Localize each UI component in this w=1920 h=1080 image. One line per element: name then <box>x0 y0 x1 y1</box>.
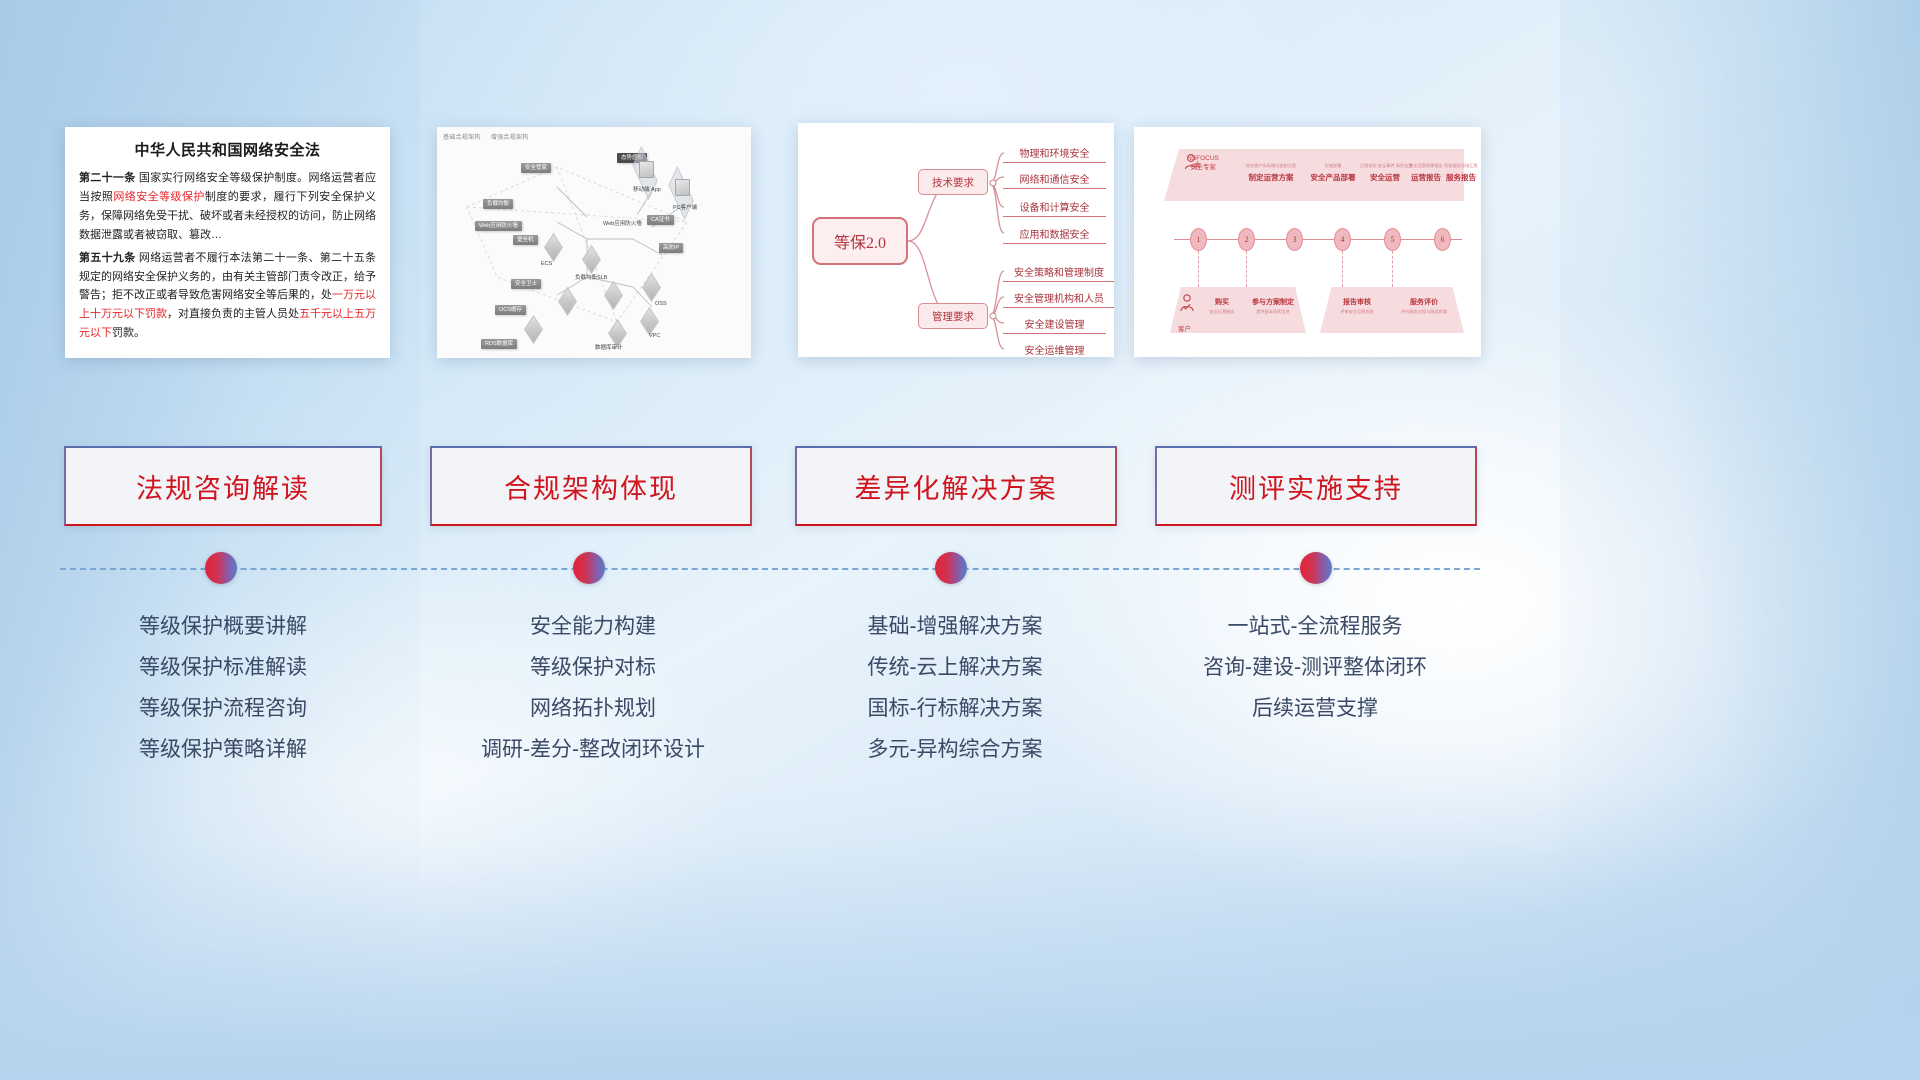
arch-node-security-guard: 安全卫士 <box>511 279 541 289</box>
list-item: 国标-行标解决方案 <box>775 688 1135 729</box>
timeline-node-5: 5 <box>1384 228 1401 251</box>
card-compliance-architecture[interactable]: 基础合规架构增强合规架构 <box>437 127 751 358</box>
arch-label-mobile-app: 移动端 App <box>633 185 661 193</box>
arch-icon-pc <box>675 179 690 196</box>
list-item: 传统-云上解决方案 <box>775 647 1135 688</box>
list-item: 一站式-全流程服务 <box>1135 606 1495 647</box>
client-label: 客户 <box>1178 323 1191 333</box>
arch-label-db-audit: 数据库审计 <box>595 343 623 351</box>
section-title-box-1[interactable]: 法规咨询解读 <box>64 446 382 526</box>
mind-leaf-org-personnel: 安全管理机构和人员 <box>1003 288 1114 308</box>
stage-sub-3: 日常巡检 安全事件 高危处置 <box>1360 163 1410 169</box>
stage-label-5: 阶段服务总结汇报 服务报告 <box>1442 163 1480 183</box>
arch-node-anti-ddos-ip: 高防IP <box>659 243 683 253</box>
mind-branch-technical: 技术要求 <box>918 169 988 195</box>
list-item: 等级保护概要讲解 <box>43 606 403 647</box>
timeline-dashed-line <box>60 568 1480 570</box>
law-paragraph-21: 第二十一条 国家实行网络安全等级保护制度。网络运营者应当按照网络安全等级保护制度… <box>79 169 376 245</box>
arch-label-pc-client: PC客户端 <box>673 203 697 211</box>
client-action-main-1: 购买 <box>1200 297 1244 307</box>
client-action-3: 报告审核 评审安全运营成效 <box>1328 297 1386 315</box>
timeline-node-3: 3 <box>1286 228 1303 251</box>
section-items-4: 一站式-全流程服务 咨询-建设-测评整体闭环 后续运营支撑 <box>1135 606 1495 729</box>
client-action-main-3: 报告审核 <box>1328 297 1386 307</box>
stage-sub-2: 实施部署 <box>1306 163 1360 169</box>
law-article-label-21: 第二十一条 <box>79 172 136 184</box>
client-action-4: 服务评价 评价服务过程与服务质量 <box>1392 297 1456 315</box>
stage-label-2: 实施部署 安全产品部署 <box>1306 163 1360 183</box>
timeline-marker-2[interactable] <box>573 552 605 584</box>
stage-label-3: 日常巡检 安全事件 高危处置 安全运营 <box>1360 163 1410 183</box>
client-action-main-2: 参与方案制定 <box>1242 297 1304 307</box>
slide-stage: 中华人民共和国网络安全法 第二十一条 国家实行网络安全等级保护制度。网络运营者应… <box>0 0 1920 1080</box>
mind-leaf-operation-mgmt: 安全运维管理 <box>1003 340 1106 357</box>
nsfocus-flow: NSFOCUS 安全专家 结合客户实际情况定制方案 制定运营方案 实施部署 安全… <box>1134 127 1481 357</box>
client-action-main-4: 服务评价 <box>1392 297 1456 307</box>
stage-main-5: 服务报告 <box>1442 172 1480 183</box>
client-action-2: 参与方案制定 提供基本现状信息 <box>1242 297 1304 315</box>
arch-label-waf: Web应用防火墙 <box>603 219 642 227</box>
section-title-2: 合规架构体现 <box>504 467 678 506</box>
arch-icon-mobile-device <box>639 161 654 178</box>
mind-root-node: 等保2.0 <box>812 217 908 265</box>
stage-sub-1: 结合客户实际情况定制方案 <box>1242 163 1300 169</box>
law-run-highlight: 网络安全等级保护 <box>113 191 205 203</box>
list-item: 调研-差分-整改闭环设计 <box>413 729 773 770</box>
section-items-3: 基础-增强解决方案 传统-云上解决方案 国标-行标解决方案 多元-异构综合方案 <box>775 606 1135 770</box>
timeline-node-1: 1 <box>1190 228 1207 251</box>
section-title-4: 测评实施支持 <box>1229 467 1403 506</box>
mind-leaf-construction-mgmt: 安全建设管理 <box>1003 314 1106 334</box>
list-item: 等级保护对标 <box>413 647 773 688</box>
arch-node-security-butler: 安全管家 <box>521 163 551 173</box>
client-action-sub-4: 评价服务过程与服务质量 <box>1392 309 1456 315</box>
section-title-box-2[interactable]: 合规架构体现 <box>430 446 752 526</box>
list-item: 多元-异构综合方案 <box>775 729 1135 770</box>
list-item: 等级保护标准解读 <box>43 647 403 688</box>
arch-label-slb: 负载均衡SLB <box>575 273 607 281</box>
client-icon <box>1178 293 1196 313</box>
law-document: 中华人民共和国网络安全法 第二十一条 国家实行网络安全等级保护制度。网络运营者应… <box>65 127 390 355</box>
law-paragraph-59: 第五十九条 网络运营者不履行本法第二十一条、第二十五条规定的网络安全保护义务的，… <box>79 249 376 344</box>
section-title-box-3[interactable]: 差异化解决方案 <box>795 446 1117 526</box>
arch-node-waf-left: Web应用防火墙 <box>475 221 522 231</box>
timeline-node-4: 4 <box>1334 228 1351 251</box>
stage-sub-4: 安全运营效果报告 <box>1406 163 1446 169</box>
list-item: 等级保护流程咨询 <box>43 688 403 729</box>
timeline-node-2: 2 <box>1238 228 1255 251</box>
list-item: 网络拓扑规划 <box>413 688 773 729</box>
section-title-box-4[interactable]: 测评实施支持 <box>1155 446 1477 526</box>
mind-leaf-device-compute: 设备和计算安全 <box>1003 197 1106 217</box>
arch-label-vpc: VPC <box>649 333 660 339</box>
expert-role: 安全专家 <box>1174 164 1232 173</box>
arch-node-ocs-cache: OCS缓存 <box>495 305 526 315</box>
law-run: ，对直接负责的主管人员处 <box>167 308 299 320</box>
stage-main-3: 安全运营 <box>1360 172 1410 183</box>
timeline-axis <box>1174 239 1462 240</box>
mind-leaf-policy-system: 安全策略和管理制度 <box>1003 262 1114 282</box>
section-title-1: 法规咨询解读 <box>136 467 310 506</box>
client-action-1: 购买 安全运营服务 <box>1200 297 1244 315</box>
architecture-diagram: 基础合规架构增强合规架构 <box>437 127 751 358</box>
client-action-sub-1: 安全运营服务 <box>1200 309 1244 315</box>
expert-label: NSFOCUS 安全专家 <box>1174 155 1232 172</box>
timeline-connector-4 <box>1342 251 1343 287</box>
list-item: 后续运营支撑 <box>1135 688 1495 729</box>
timeline-connector-2 <box>1246 251 1247 287</box>
stage-main-2: 安全产品部署 <box>1306 172 1360 183</box>
law-article-label-59: 第五十九条 <box>79 252 136 264</box>
arch-label-oss: OSS <box>655 301 667 307</box>
arch-node-ca-cert: CA证书 <box>647 215 674 225</box>
timeline-connector-1 <box>1198 251 1199 287</box>
stage-label-4: 安全运营效果报告 运营报告 <box>1406 163 1446 183</box>
timeline-marker-1[interactable] <box>205 552 237 584</box>
card-mind-map-dengbao[interactable]: 等保2.0 技术要求 管理要求 物理和环境安全 网络和通信安全 设备和计算安全 … <box>798 123 1114 357</box>
mind-leaf-network-comm: 网络和通信安全 <box>1003 169 1106 189</box>
mind-leaf-app-data: 应用和数据安全 <box>1003 224 1106 244</box>
mind-map: 等保2.0 技术要求 管理要求 物理和环境安全 网络和通信安全 设备和计算安全 … <box>798 123 1114 357</box>
arch-node-rds: RDS数据库 <box>481 339 517 349</box>
mind-branch-management: 管理要求 <box>918 303 988 329</box>
stage-main-4: 运营报告 <box>1406 172 1446 183</box>
timeline-node-6: 6 <box>1434 228 1451 251</box>
list-item: 基础-增强解决方案 <box>775 606 1135 647</box>
mind-leaf-physical-env: 物理和环境安全 <box>1003 143 1106 163</box>
section-items-2: 安全能力构建 等级保护对标 网络拓扑规划 调研-差分-整改闭环设计 <box>413 606 773 770</box>
list-item: 等级保护策略详解 <box>43 729 403 770</box>
list-item: 安全能力构建 <box>413 606 773 647</box>
arch-label-ecs: ECS <box>541 261 552 267</box>
reference-card-row: 中华人民共和国网络安全法 第二十一条 国家实行网络安全等级保护制度。网络运营者应… <box>0 0 1920 380</box>
timeline-marker-4[interactable] <box>1300 552 1332 584</box>
architecture-connectors <box>437 127 751 358</box>
timeline-marker-3[interactable] <box>935 552 967 584</box>
card-cybersecurity-law[interactable]: 中华人民共和国网络安全法 第二十一条 国家实行网络安全等级保护制度。网络运营者应… <box>65 127 390 358</box>
stage-label-1: 结合客户实际情况定制方案 制定运营方案 <box>1242 163 1300 183</box>
timeline-connector-5 <box>1392 251 1393 287</box>
law-run: 罚款。 <box>112 327 145 339</box>
law-title: 中华人民共和国网络安全法 <box>79 139 376 160</box>
card-nsfocus-service-flow[interactable]: NSFOCUS 安全专家 结合客户实际情况定制方案 制定运营方案 实施部署 安全… <box>1134 127 1481 357</box>
stage-sub-5: 阶段服务总结汇报 <box>1442 163 1480 169</box>
section-title-3: 差异化解决方案 <box>855 467 1058 506</box>
arch-node-load-balancer: 负载均衡 <box>483 199 513 209</box>
client-action-sub-3: 评审安全运营成效 <box>1328 309 1386 315</box>
list-item: 咨询-建设-测评整体闭环 <box>1135 647 1495 688</box>
stage-main-1: 制定运营方案 <box>1242 172 1300 183</box>
expert-brand: NSFOCUS <box>1174 155 1232 164</box>
section-items-1: 等级保护概要讲解 等级保护标准解读 等级保护流程咨询 等级保护策略详解 <box>43 606 403 770</box>
client-action-sub-2: 提供基本现状信息 <box>1242 309 1304 315</box>
arch-node-bastion: 堡垒机 <box>513 235 538 245</box>
